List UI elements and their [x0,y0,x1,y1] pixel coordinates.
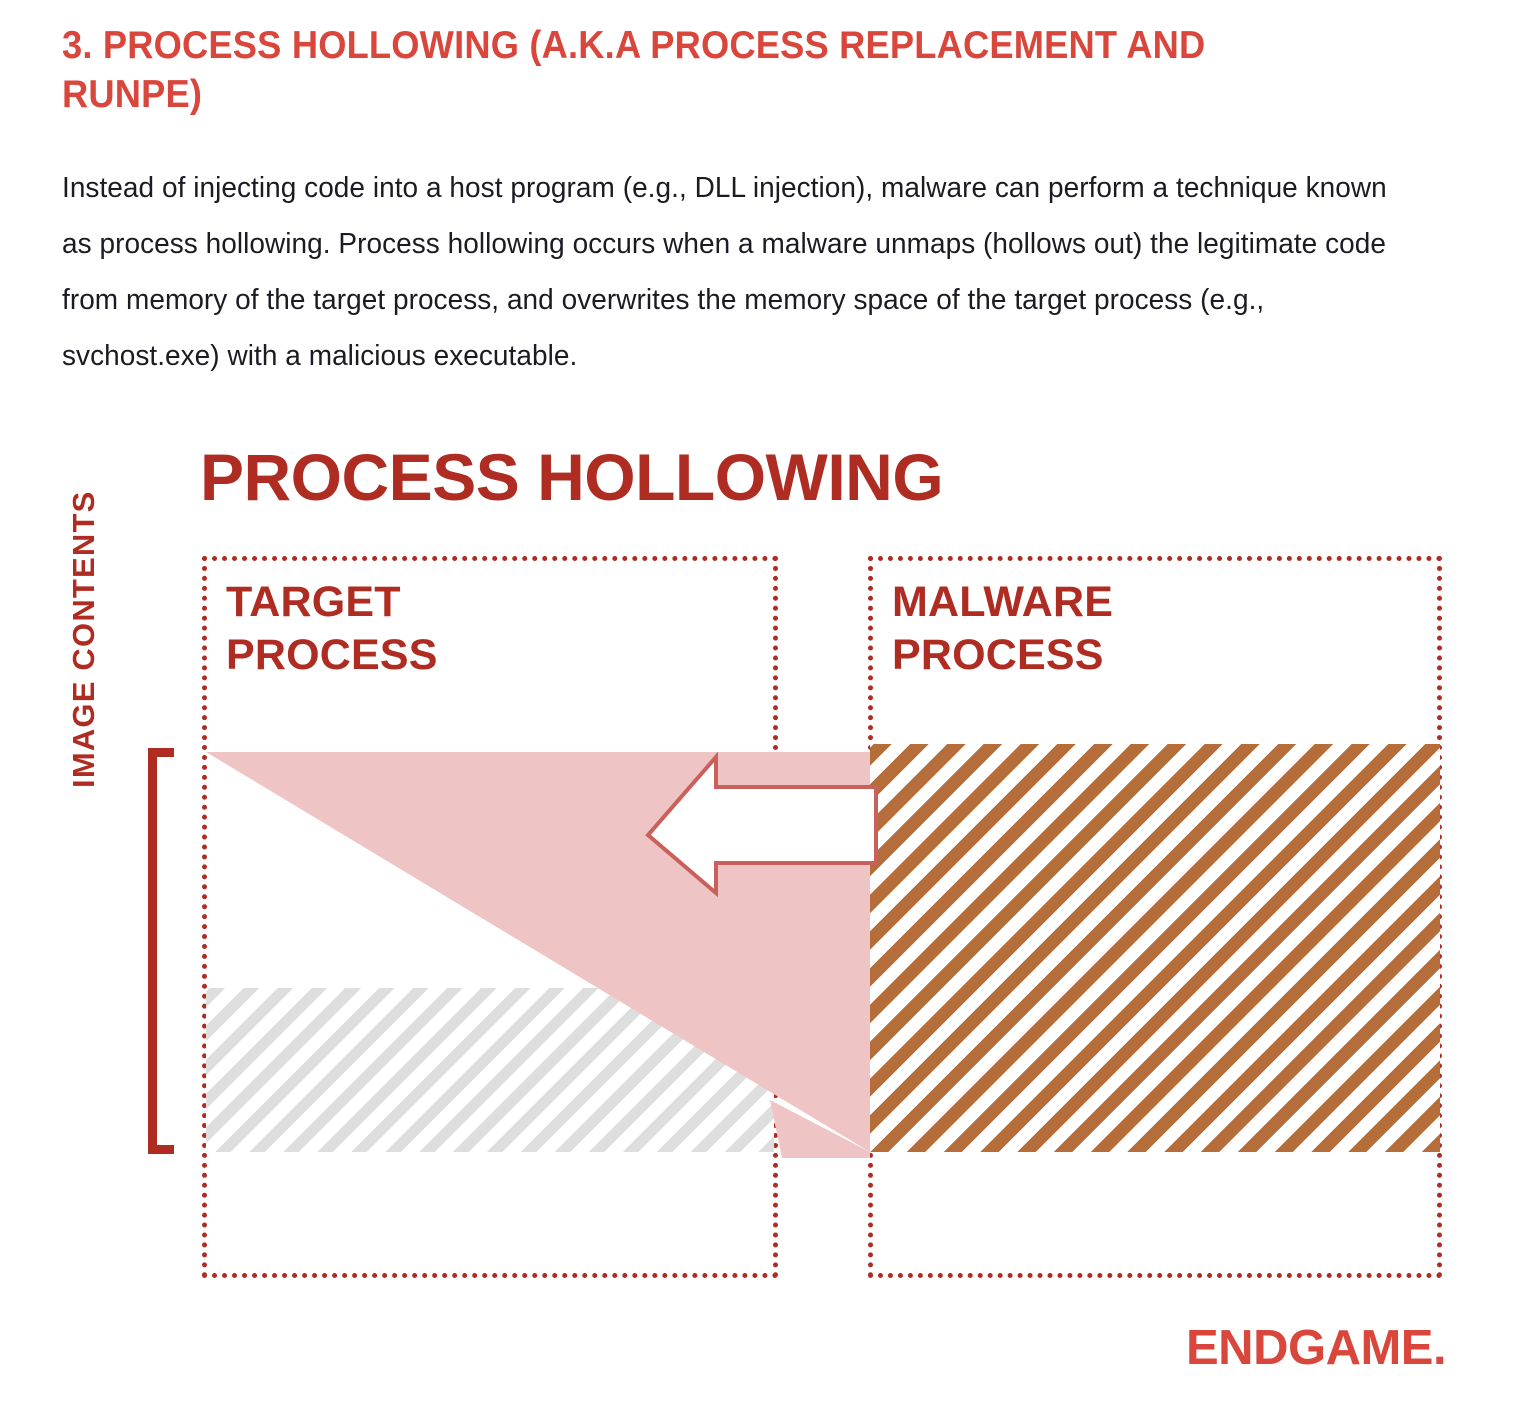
image-contents-bracket [148,748,174,1154]
target-process-label: TARGET PROCESS [226,576,438,682]
image-contents-label: IMAGE CONTENTS [68,458,99,788]
replacement-flow-overlay [0,0,1520,1412]
endgame-logo: ENDGAME. [1186,1324,1446,1373]
page-root: 3. Process Hollowing (a.k.a Process Repl… [0,0,1520,1412]
process-hollowing-diagram: PROCESS HOLLOWING IMAGE CONTENTS TARGET … [0,0,1520,1412]
malware-process-label: MALWARE PROCESS [892,576,1113,682]
